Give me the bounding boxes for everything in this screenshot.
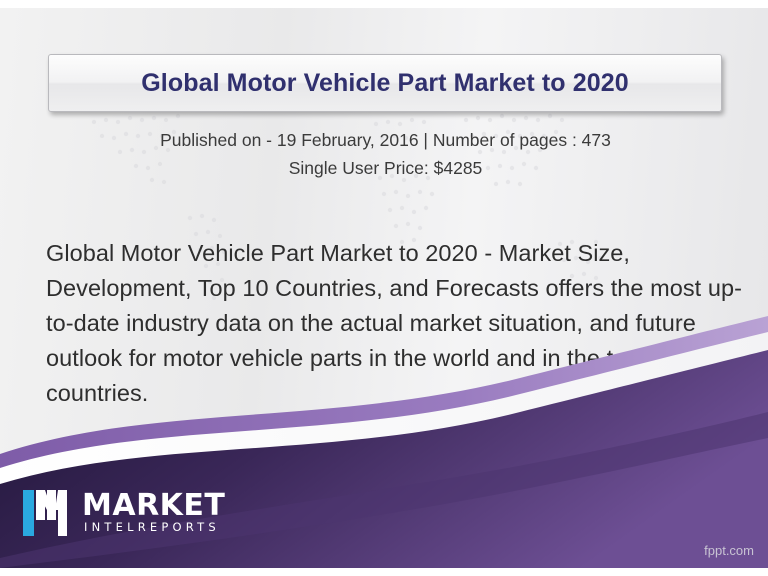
logo-wordmark: MARKET [82, 488, 225, 523]
page-title: Global Motor Vehicle Part Market to 2020 [141, 69, 628, 98]
title-box: Global Motor Vehicle Part Market to 2020 [48, 54, 722, 112]
logo-tagline: INTELREPORTS [84, 520, 220, 534]
slide-canvas: Global Motor Vehicle Part Market to 2020… [0, 8, 768, 568]
slide-stage: Global Motor Vehicle Part Market to 2020… [0, 0, 768, 576]
brand-logo: MARKET INTELREPORTS [22, 486, 252, 544]
slide-root: Global Motor Vehicle Part Market to 2020… [0, 0, 768, 576]
publication-meta: Published on - 19 February, 2016 | Numbe… [58, 126, 713, 182]
watermark: fppt.com [704, 543, 754, 558]
logo-mark-icon [22, 488, 74, 538]
publication-meta-line2: Single User Price: $4285 [58, 154, 713, 182]
publication-meta-line1: Published on - 19 February, 2016 | Numbe… [160, 130, 611, 150]
